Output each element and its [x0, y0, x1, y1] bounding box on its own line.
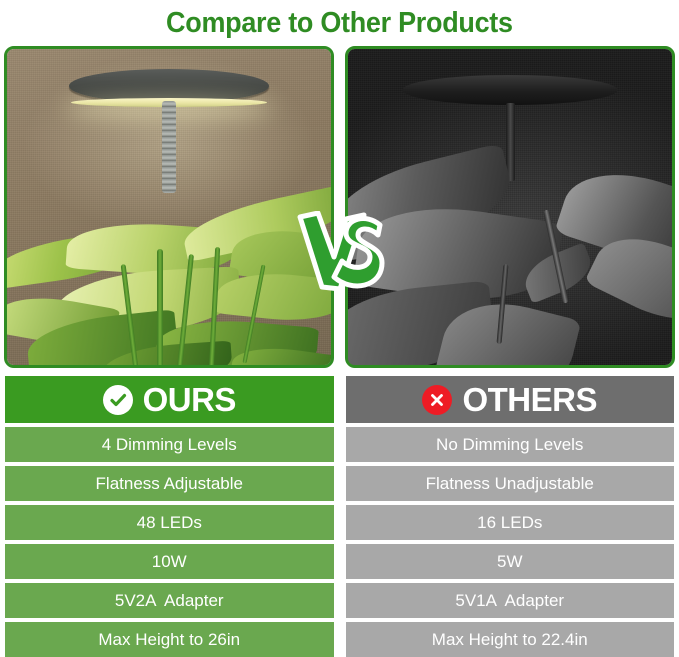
table-row: 5V2A Adapter: [5, 583, 334, 618]
others-plant-foliage: [348, 49, 672, 365]
table-row: Flatness Adjustable: [5, 466, 334, 501]
vs-badge: [294, 211, 386, 293]
photo-comparison-section: [0, 46, 679, 368]
table-row: 5V1A Adapter: [346, 583, 675, 618]
page-title: Compare to Other Products: [166, 7, 513, 40]
others-label: OTHERS: [462, 383, 597, 416]
ours-plant-foliage: [7, 49, 331, 365]
table-row: Flatness Unadjustable: [346, 466, 675, 501]
table-row: Max Height to 26in: [5, 622, 334, 657]
ours-photo: [4, 46, 334, 368]
others-column-header: OTHERS: [346, 376, 675, 423]
table-row: 10W: [5, 544, 334, 579]
table-row: 16 LEDs: [346, 505, 675, 540]
table-row: 48 LEDs: [5, 505, 334, 540]
comparison-tables: OURS 4 Dimming Levels Flatness Adjustabl…: [0, 368, 679, 657]
page-title-bar: Compare to Other Products: [0, 0, 679, 46]
ours-column-header: OURS: [5, 376, 334, 423]
table-row: No Dimming Levels: [346, 427, 675, 462]
table-row: 4 Dimming Levels: [5, 427, 334, 462]
others-photo: [345, 46, 675, 368]
x-circle-icon: [422, 385, 452, 415]
table-row: 5W: [346, 544, 675, 579]
table-row: Max Height to 22.4in: [346, 622, 675, 657]
ours-column: OURS 4 Dimming Levels Flatness Adjustabl…: [5, 376, 334, 657]
others-column: OTHERS No Dimming Levels Flatness Unadju…: [346, 376, 675, 657]
check-circle-icon: [103, 385, 133, 415]
ours-label: OURS: [143, 383, 236, 416]
